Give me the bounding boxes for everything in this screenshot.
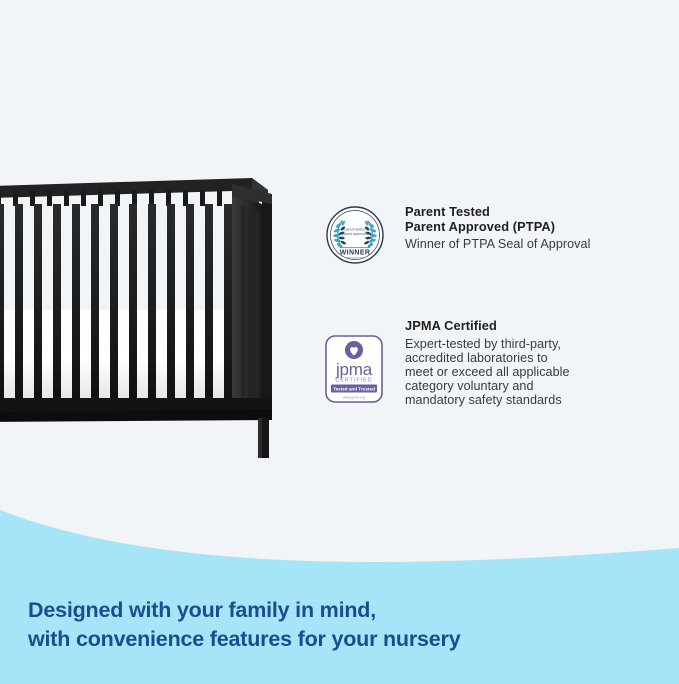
banner-headline-line-2: with convenience features for your nurse… <box>28 625 460 654</box>
ptpa-seal-badge: parent tested parent approved WINNER www… <box>325 205 387 265</box>
jpma-description-line: Expert-tested by third-party, <box>405 337 625 351</box>
jpma-wordmark: jpma <box>335 360 373 379</box>
jpma-description-line: accredited laboratories to <box>405 351 625 365</box>
jpma-sub-wordmark: CERTIFIED <box>335 378 372 384</box>
certification-item-jpma: jpma CERTIFIED Tested and Trusted www.jp… <box>325 319 625 408</box>
certification-item-ptpa: parent tested parent approved WINNER www… <box>325 205 625 305</box>
svg-text:parent approved: parent approved <box>342 232 368 236</box>
jpma-description-line: mandatory safety standards <box>405 393 625 407</box>
jpma-url-text: www.jpma.org <box>343 396 366 400</box>
jpma-certified-badge: jpma CERTIFIED Tested and Trusted www.jp… <box>325 335 387 403</box>
jpma-description: Expert-tested by third-party, accredited… <box>405 337 625 408</box>
crib-product-image <box>0 160 300 460</box>
ptpa-title-line-1: Parent Tested <box>405 205 625 220</box>
ptpa-badge-url-text: www.ptpa.com <box>345 256 365 260</box>
banner-headline-line-1: Designed with your family in mind, <box>28 596 460 625</box>
jpma-title: JPMA Certified <box>405 319 625 334</box>
ptpa-title-line-2: Parent Approved (PTPA) <box>405 220 625 235</box>
ptpa-seal-icon: parent tested parent approved WINNER www… <box>325 205 385 265</box>
jpma-description-line: category voluntary and <box>405 379 625 393</box>
bottom-banner <box>0 500 679 684</box>
ptpa-description: Winner of PTPA Seal of Approval <box>405 237 625 251</box>
ptpa-text-block: Parent Tested Parent Approved (PTPA) Win… <box>405 205 625 251</box>
jpma-description-line: meet or exceed all applicable <box>405 365 625 379</box>
ptpa-title: Parent Tested Parent Approved (PTPA) <box>405 205 625 234</box>
certifications-list: parent tested parent approved WINNER www… <box>325 205 625 408</box>
banner-headline: Designed with your family in mind, with … <box>28 596 460 654</box>
banner-curved-background <box>0 500 679 684</box>
product-feature-page: parent tested parent approved WINNER www… <box>0 0 679 684</box>
jpma-banner-text: Tested and Trusted <box>333 386 375 391</box>
jpma-certified-icon: jpma CERTIFIED Tested and Trusted www.jp… <box>325 335 383 403</box>
jpma-text-block: JPMA Certified Expert-tested by third-pa… <box>405 319 625 408</box>
crib-illustration <box>0 160 300 460</box>
